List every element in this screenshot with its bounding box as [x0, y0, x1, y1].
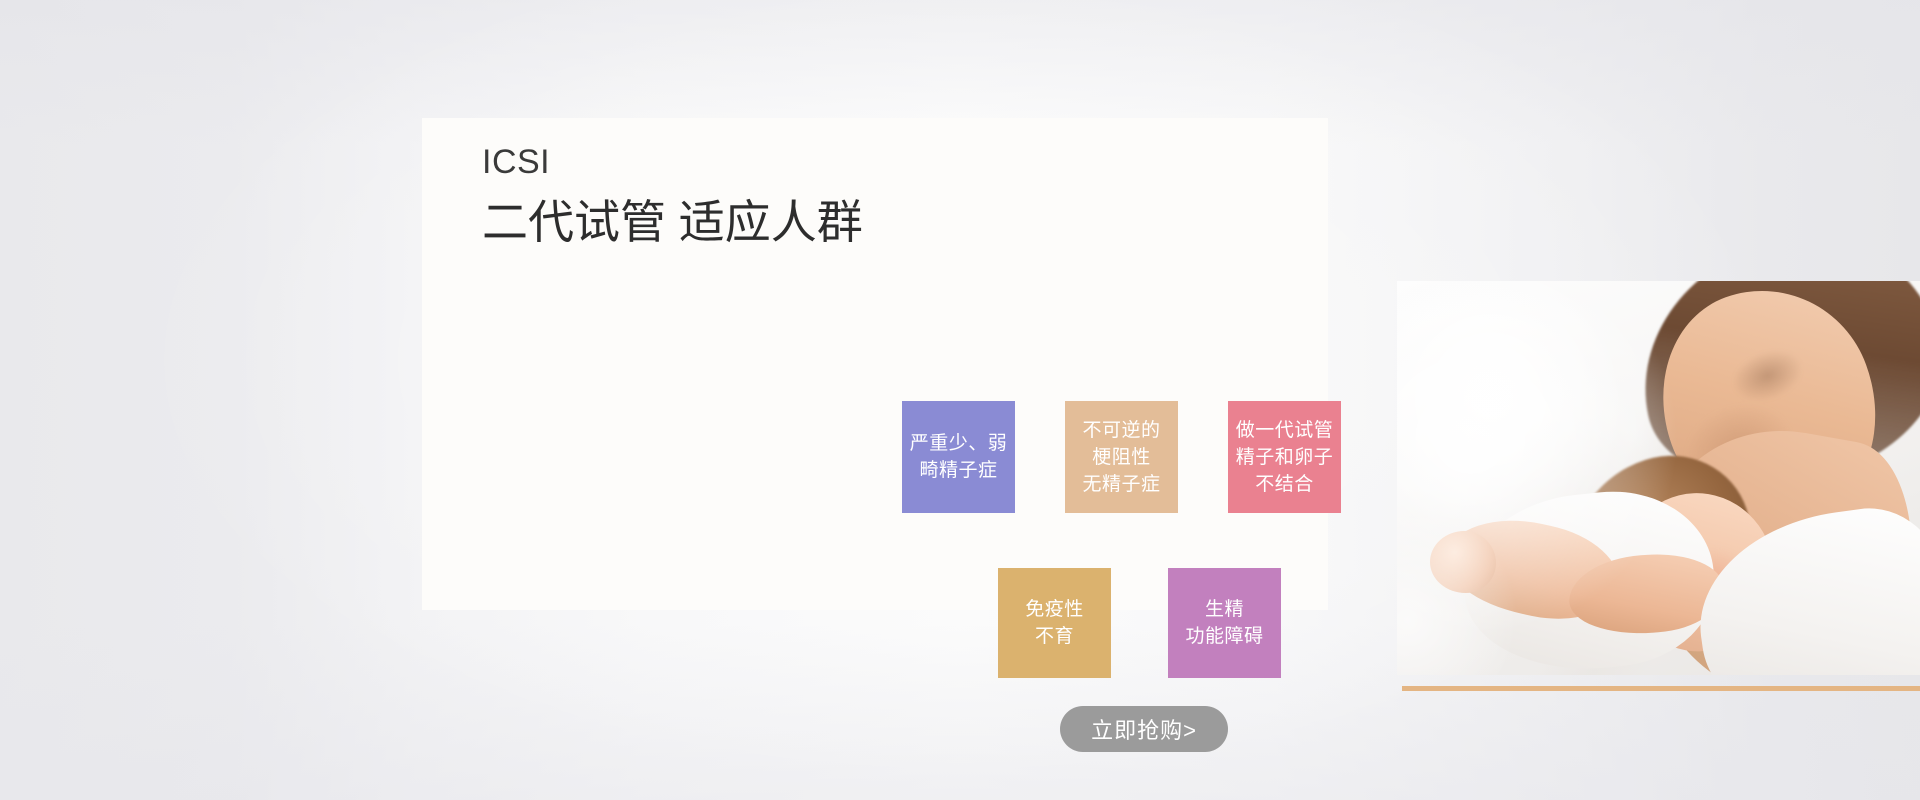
tag-line: 免疫性	[1025, 596, 1084, 623]
tag-line: 功能障碍	[1185, 623, 1263, 650]
buy-now-button[interactable]: 立即抢购>	[1060, 706, 1228, 752]
indication-tag-spermatogenic-dysfunction[interactable]: 生精 功能障碍	[1168, 568, 1281, 678]
indication-tag-immune-infertility[interactable]: 免疫性 不育	[998, 568, 1111, 678]
indication-tag-irreversible-obstructive-azoospermia[interactable]: 不可逆的 梗阻性 无精子症	[1065, 401, 1178, 513]
tag-line: 畸精子症	[919, 457, 997, 484]
banner-photo-mother-and-baby	[1397, 281, 1920, 675]
banner-eyebrow: ICSI	[482, 140, 982, 184]
tag-line: 无精子症	[1082, 471, 1160, 498]
tag-line: 不可逆的	[1082, 417, 1160, 444]
tag-line: 梗阻性	[1092, 444, 1151, 471]
tag-line: 做一代试管	[1236, 417, 1334, 444]
banner-photo-frame	[1397, 281, 1920, 681]
tag-line: 不结合	[1255, 471, 1314, 498]
promo-banner-card: ICSI 二代试管 适应人群 严重少、弱 畸精子症 不可逆的 梗阻性 无精子症 …	[422, 118, 1328, 610]
tag-line: 严重少、弱	[910, 430, 1008, 457]
tag-line: 精子和卵子	[1236, 444, 1334, 471]
indication-tag-row-primary: 严重少、弱 畸精子症 不可逆的 梗阻性 无精子症 做一代试管 精子和卵子 不结合	[902, 401, 1341, 513]
indication-tag-row-secondary: 免疫性 不育 生精 功能障碍	[998, 568, 1281, 678]
indication-tag-ivf-fertilization-failure[interactable]: 做一代试管 精子和卵子 不结合	[1228, 401, 1341, 513]
page-title: 二代试管 适应人群	[482, 192, 982, 252]
photo-soft-light	[1397, 281, 1920, 675]
tag-line: 生精	[1205, 596, 1244, 623]
banner-text-column: ICSI 二代试管 适应人群	[482, 140, 982, 252]
tag-line: 不育	[1035, 623, 1074, 650]
indication-tag-severe-oligo-astheno-terato[interactable]: 严重少、弱 畸精子症	[902, 401, 1015, 513]
